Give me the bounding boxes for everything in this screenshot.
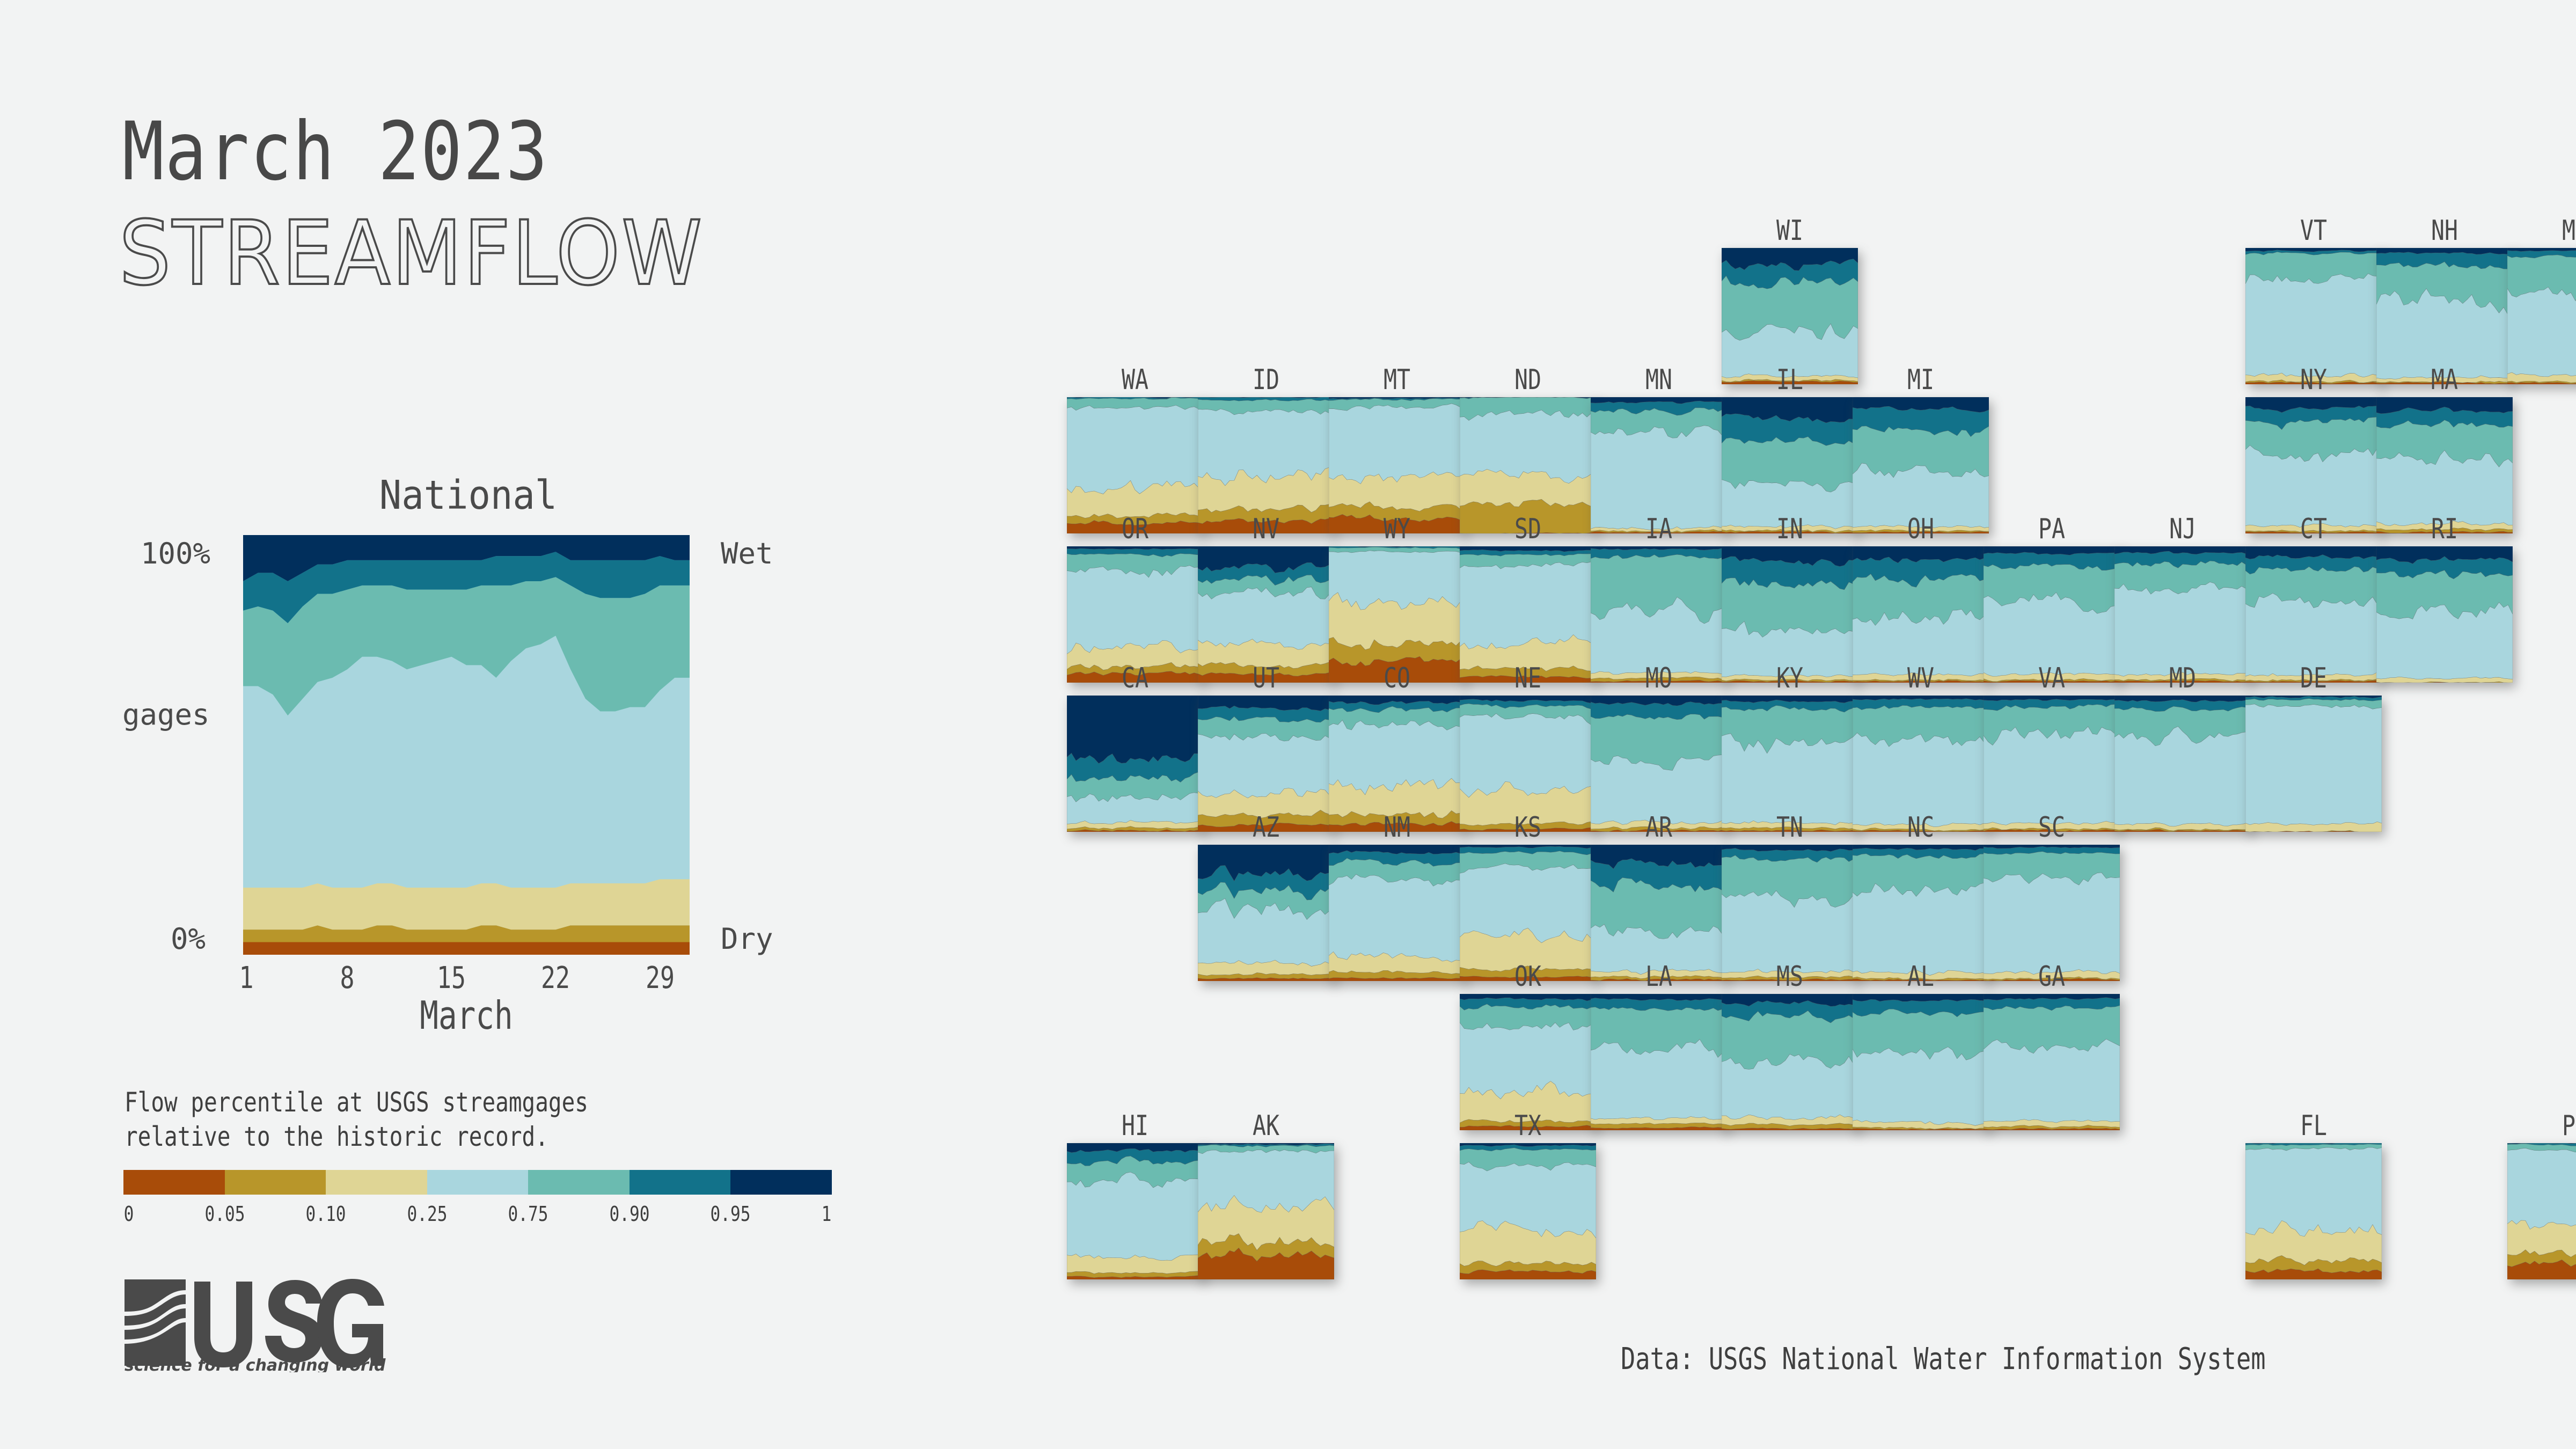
state-tile-label: PR [2518,1110,2576,1142]
state-tile-label: AK [1208,1110,1324,1142]
data-source-note: Data: USGS National Water Information Sy… [1621,1342,2266,1377]
state-tile-label: DE [2256,662,2372,694]
state-tile-chart [1591,994,1727,1130]
state-tile-label: KY [1732,662,1848,694]
state-tile-chart [1722,994,1858,1130]
state-tile-label: VT [2256,215,2372,247]
state-tile-label: HI [1077,1110,1193,1142]
state-tile-label: IA [1601,513,1717,545]
state-tile-chart [2245,1143,2382,1279]
state-tile-label: NM [1339,811,1455,844]
state-tile-chart [2507,1143,2576,1279]
state-tile-label: CA [1077,662,1193,694]
state-tile-label: KS [1470,811,1586,844]
state-tile-label: OK [1470,961,1586,993]
state-tile-chart [1067,696,1203,832]
state-tile-chart [2245,696,2382,832]
state-tile-chart [2114,696,2251,832]
state-tile-label: WY [1339,513,1455,545]
state-tile-label: WA [1077,364,1193,396]
state-tile-label: NE [1470,662,1586,694]
state-tile-label: MS [1732,961,1848,993]
state-tile-chart [1460,1143,1596,1279]
state-tile-label: TX [1470,1110,1586,1142]
state-tile-label: IL [1732,364,1848,396]
state-tile-label: SD [1470,513,1586,545]
state-tile-label: NY [2256,364,2372,396]
state-tile-label: FL [2256,1110,2372,1142]
state-tile-chart [1067,1143,1203,1279]
state-tile-label: LA [1601,961,1717,993]
state-tile-label: PA [1994,513,2110,545]
state-tile-label: TN [1732,811,1848,844]
state-tile-label: NJ [2125,513,2241,545]
state-tile-label: OR [1077,513,1193,545]
state-tile-label: VA [1994,662,2110,694]
state-tile-label: WV [1863,662,1979,694]
state-tile-label: GA [1994,961,2110,993]
state-tile-label: AR [1601,811,1717,844]
state-tile-label: NH [2387,215,2502,247]
state-tile-label: MT [1339,364,1455,396]
state-tile-label: SC [1994,811,2110,844]
state-tile-label: CT [2256,513,2372,545]
state-tile-chart [1984,994,2120,1130]
state-tile-chart [2376,546,2513,683]
state-tile-label: IN [1732,513,1848,545]
state-tile-label: MI [1863,364,1979,396]
state-tile-chart [1853,994,1989,1130]
state-tile-label: MO [1601,662,1717,694]
state-tile-chart [1329,845,1465,981]
state-tile-chart [1198,845,1334,981]
state-tile-label: WI [1732,215,1848,247]
poster-canvas: March 2023 STREAMFLOW National 100% gage… [0,0,2576,1449]
state-tile-label: NV [1208,513,1324,545]
state-tile-label: MA [2387,364,2502,396]
state-tile-label: CO [1339,662,1455,694]
state-tile-label: AL [1863,961,1979,993]
state-tile-label: ND [1470,364,1586,396]
state-tile-chart [2507,248,2576,384]
state-tile-grid: WIVTNHMEWAIDMTNDMNILMINYMAORNVWYSDIAINOH… [0,0,2576,1449]
state-tile-chart [1198,1143,1334,1279]
state-tile-label: MN [1601,364,1717,396]
state-tile-label: OH [1863,513,1979,545]
state-tile-label: ID [1208,364,1324,396]
state-tile-label: ME [2518,215,2576,247]
state-tile-label: MD [2125,662,2241,694]
state-tile-label: RI [2387,513,2502,545]
state-tile-label: NC [1863,811,1979,844]
state-tile-label: UT [1208,662,1324,694]
state-tile-label: AZ [1208,811,1324,844]
